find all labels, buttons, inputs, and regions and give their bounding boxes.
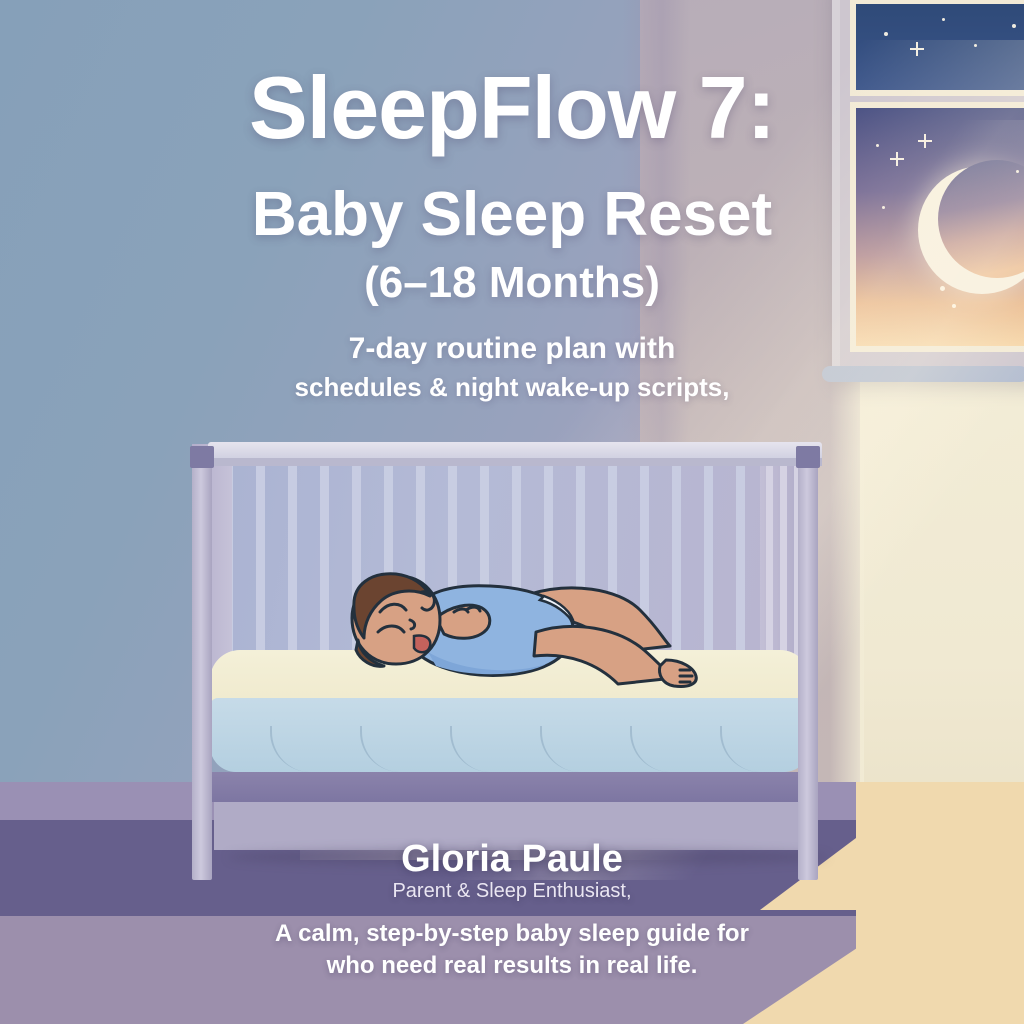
tagline-line-1: 7-day routine plan with: [0, 332, 1024, 366]
description-line-1: A calm, step-by-step baby sleep guide fo…: [0, 920, 1024, 948]
author-role: Parent & Sleep Enthusiast,: [0, 880, 1024, 903]
star-icon: [1016, 170, 1019, 173]
star-icon: [1012, 24, 1016, 28]
page-title: SleepFlow 7:: [0, 64, 1024, 152]
star-icon: [974, 44, 977, 47]
crib-post-cap-right: [796, 446, 820, 468]
crib-post-left: [192, 446, 212, 880]
star-sparkle-icon: [910, 42, 924, 56]
crib-lower-rail: [202, 772, 814, 802]
star-sparkle-icon: [890, 152, 900, 162]
page-subtitle: Baby Sleep Reset: [0, 182, 1024, 247]
crib-post-right: [798, 446, 818, 880]
wall-lit-panel: [860, 382, 1024, 782]
description-line-2: who need real results in real life.: [0, 952, 1024, 980]
sleeping-baby: [318, 566, 708, 694]
crib-top-rail-shadow: [208, 458, 822, 466]
crib-post-cap-left: [190, 446, 214, 468]
mattress-folds: [210, 726, 810, 774]
author-name: Gloria Paule: [0, 838, 1024, 881]
age-range-label: (6–18 Months): [0, 258, 1024, 308]
tagline-line-2: schedules & night wake-up scripts,: [0, 372, 1024, 403]
star-icon: [942, 18, 945, 21]
book-cover: SleepFlow 7: Baby Sleep Reset (6–18 Mont…: [0, 0, 1024, 1024]
star-icon: [884, 32, 888, 36]
